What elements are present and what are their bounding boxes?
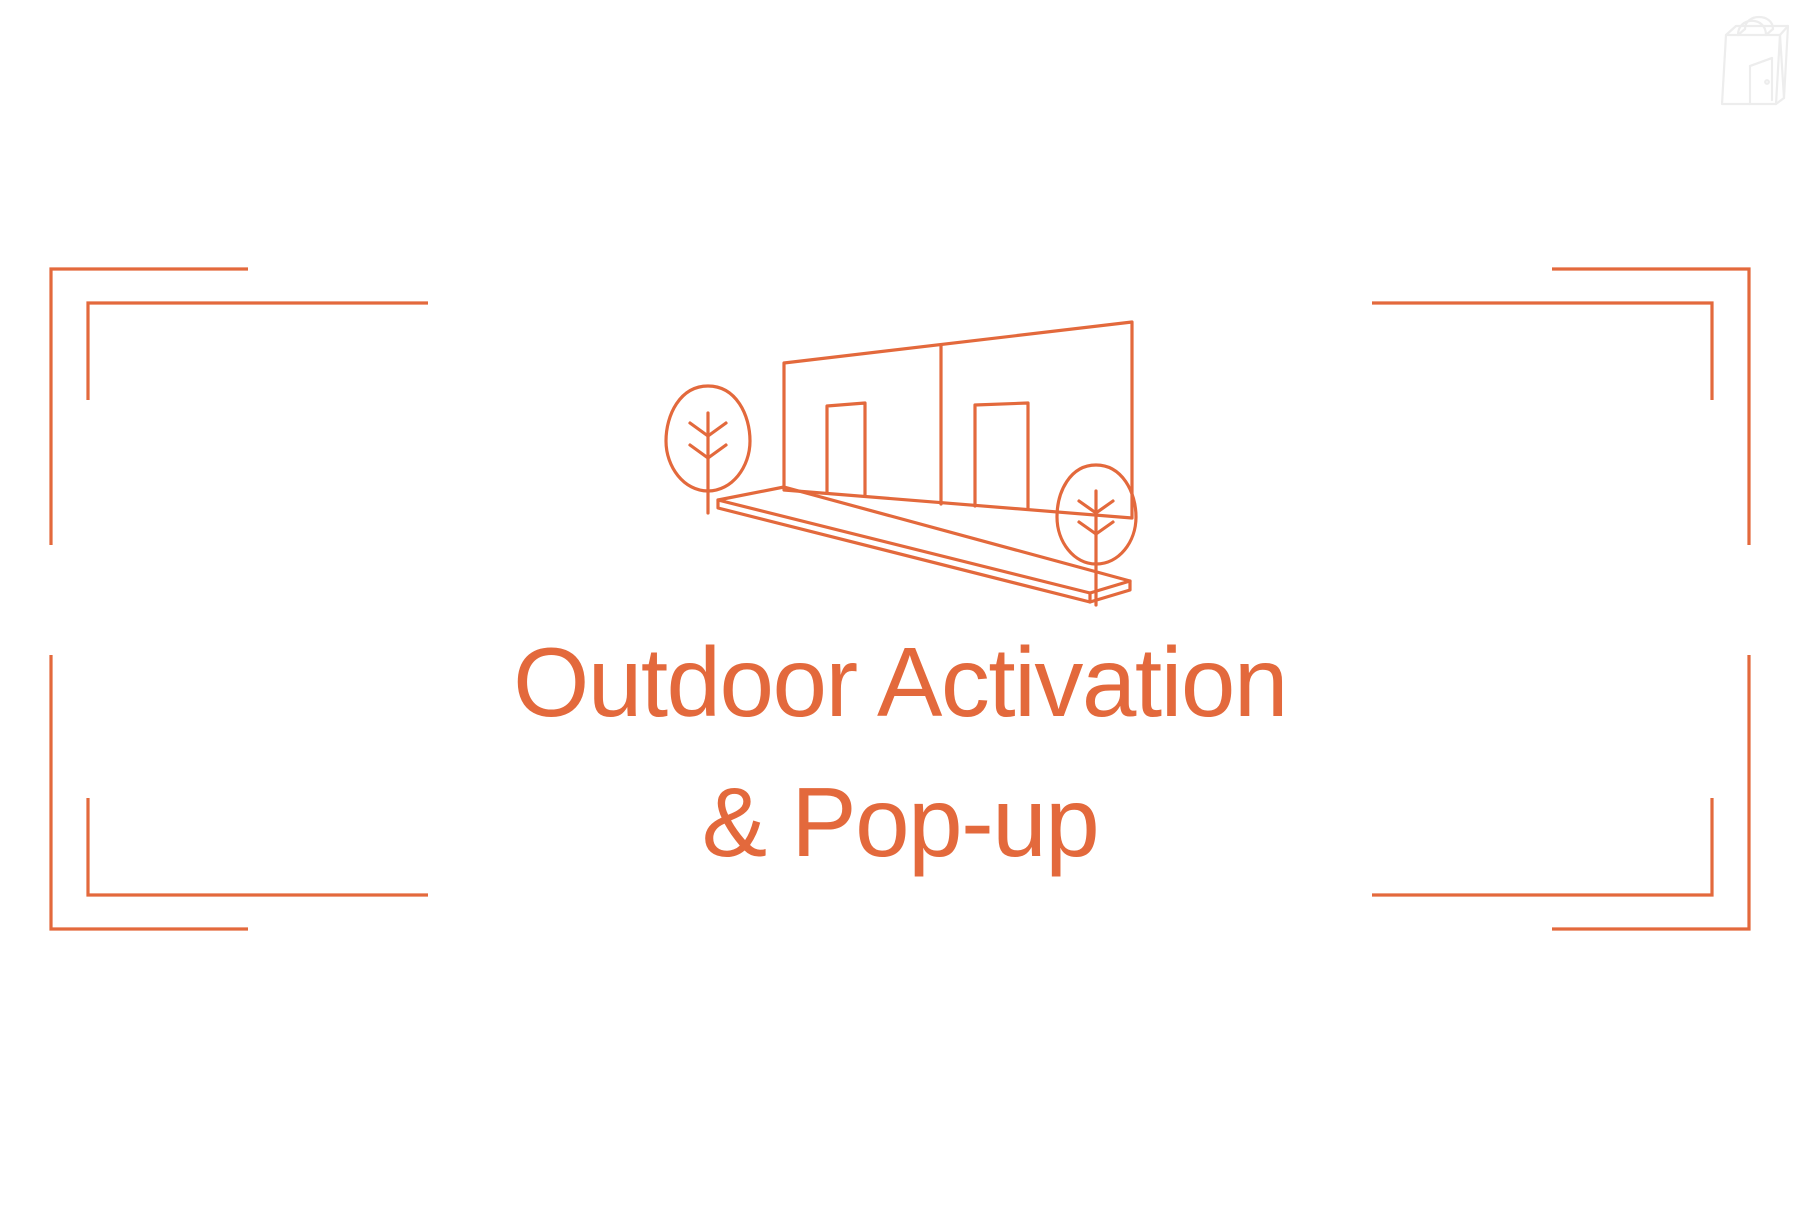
bracket-top-right-inner [1372,303,1712,400]
slide-canvas: Outdoor Activation & Pop-up [0,0,1800,1200]
page-title: Outdoor Activation & Pop-up [0,612,1800,892]
outdoor-storefront-facade-icon [660,305,1150,615]
shopping-bag-storefront-icon [1714,8,1792,108]
title-line-1: Outdoor Activation [0,612,1800,752]
tree-left [666,386,750,513]
hero-illustration [660,305,1150,615]
bracket-top-left-inner [88,303,428,400]
door-opening-left [827,403,865,496]
watermark [1714,8,1792,108]
facade-wall [784,322,1132,518]
door-opening-right [975,403,1028,509]
walkway-platform-top [718,487,1130,593]
bracket-top-right-outer [1552,269,1749,545]
title-line-2: & Pop-up [0,752,1800,892]
bracket-top-left-outer [51,269,248,545]
